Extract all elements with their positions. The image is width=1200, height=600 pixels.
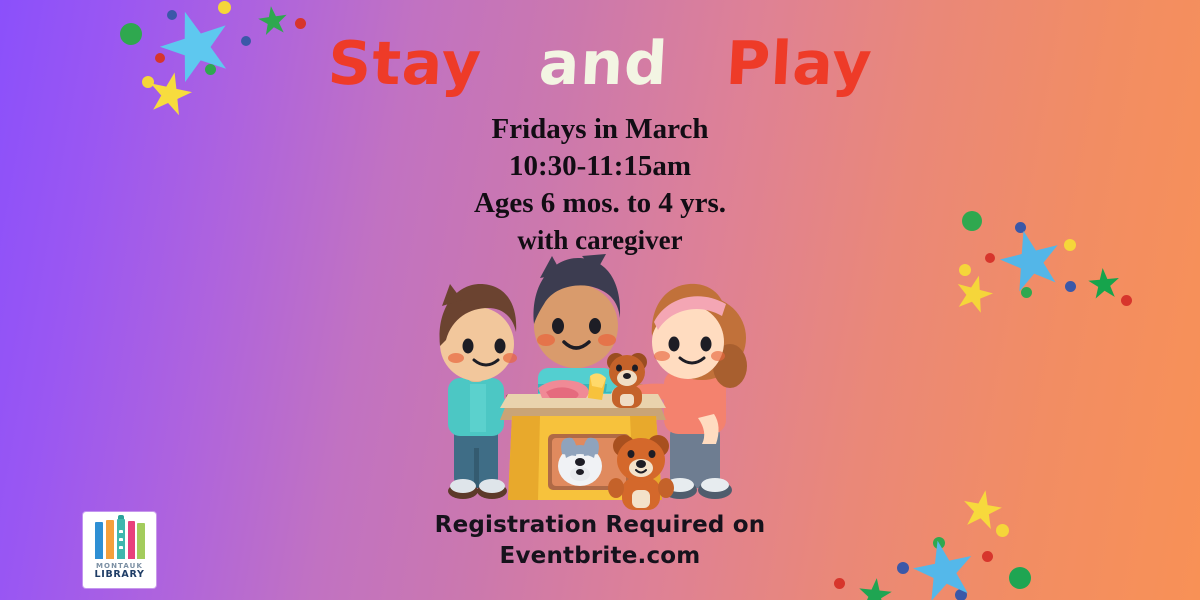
lighthouse-window-3 (119, 546, 123, 549)
dot-blue-bottom2 (955, 589, 967, 600)
title-word-and: and (538, 34, 670, 94)
book-spine-pink (128, 521, 135, 559)
book-spine-blue (95, 522, 103, 559)
montauk-library-logo: MONTAUK LIBRARY (83, 512, 156, 588)
star-yellow-right (951, 271, 998, 318)
dot-green-right2 (1021, 287, 1032, 298)
registration-note: Registration Required on Eventbrite.com (0, 510, 1200, 572)
registration-line-1: Registration Required on (0, 510, 1200, 541)
logo-books-icon (94, 519, 146, 559)
logo-name-library: LIBRARY (94, 570, 144, 580)
page-title: Stay and Play (0, 34, 1200, 94)
detail-time: 10:30-11:15am (0, 149, 1200, 183)
dot-blue-right2 (1065, 281, 1076, 292)
detail-age-range: Ages 6 mos. to 4 yrs. (0, 186, 1200, 220)
star-green-bottom (856, 576, 893, 600)
dot-red-top2 (295, 18, 306, 29)
dot-yellow-right2 (959, 264, 971, 276)
lighthouse-window-1 (119, 530, 123, 533)
dot-blue-topleft (167, 10, 177, 20)
star-green-topleft (256, 4, 290, 38)
dot-yellow-topleft (218, 1, 231, 14)
star-green-right (1087, 267, 1122, 302)
dog-plush (558, 438, 602, 486)
dot-red-bottom2 (834, 578, 845, 589)
lighthouse-top (118, 515, 124, 519)
title-word-stay: Stay (326, 34, 483, 94)
dot-red-right2 (1121, 295, 1132, 306)
children-playing-illustration (430, 248, 760, 510)
logo-wordmark: MONTAUK LIBRARY (94, 563, 144, 580)
event-details: Fridays in March 10:30-11:15am Ages 6 mo… (0, 112, 1200, 257)
detail-dates: Fridays in March (0, 112, 1200, 146)
title-word-play: Play (724, 34, 873, 94)
book-spine-green (137, 523, 145, 559)
lighthouse-window-2 (119, 538, 123, 541)
registration-line-2: Eventbrite.com (0, 541, 1200, 572)
small-bear-toy (607, 353, 647, 408)
book-spine-orange (106, 520, 114, 559)
event-flyer: Stay and Play Fridays in March 10:30-11:… (0, 0, 1200, 600)
